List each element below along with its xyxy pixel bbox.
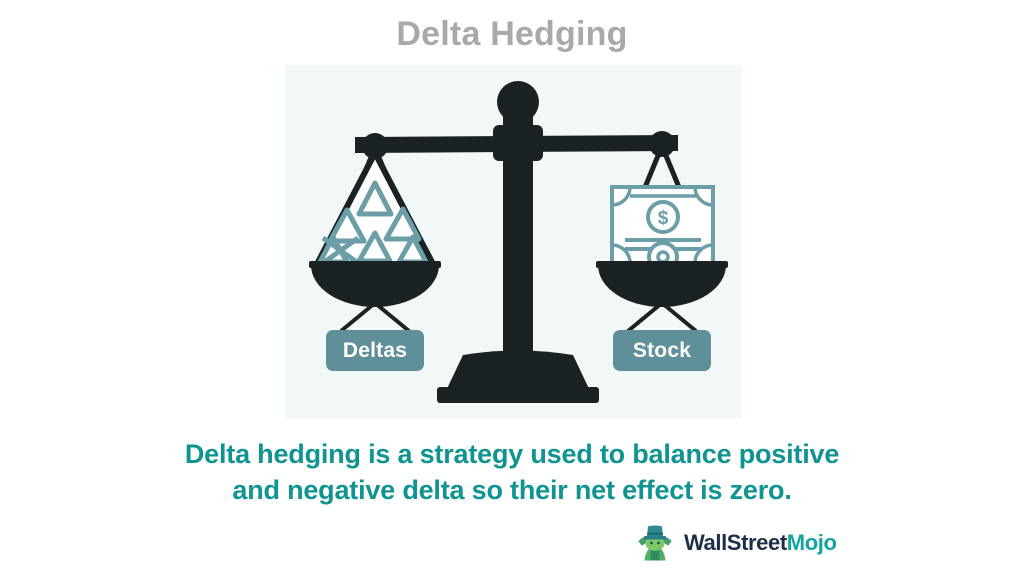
balance-scale-graphic: $ — [285, 65, 742, 418]
left-pan — [309, 153, 441, 307]
right-label-strings — [628, 303, 696, 331]
left-pan-label — [326, 330, 424, 371]
logo-text-accent: Mojo — [787, 530, 837, 555]
left-label-strings — [341, 303, 409, 331]
caption-text: Delta hedging is a strategy used to bala… — [112, 437, 912, 509]
caption-line-1: Delta hedging is a strategy used to bala… — [112, 437, 912, 473]
page-title: Delta Hedging — [0, 16, 1024, 53]
slide-canvas: Delta Hedging — [0, 0, 1024, 576]
caption-line-2: and negative delta so their net effect i… — [112, 473, 912, 509]
brand-logo: WallStreetMojo — [634, 521, 837, 565]
logo-text-primary: WallStreet — [684, 530, 787, 555]
logo-wordmark: WallStreetMojo — [684, 530, 837, 556]
right-pan: $ — [596, 187, 728, 307]
illustration-panel: $ — [285, 65, 742, 418]
wallstreetmojo-mascot-icon — [634, 522, 676, 564]
right-pan-label — [613, 330, 711, 371]
svg-text:$: $ — [658, 208, 669, 229]
